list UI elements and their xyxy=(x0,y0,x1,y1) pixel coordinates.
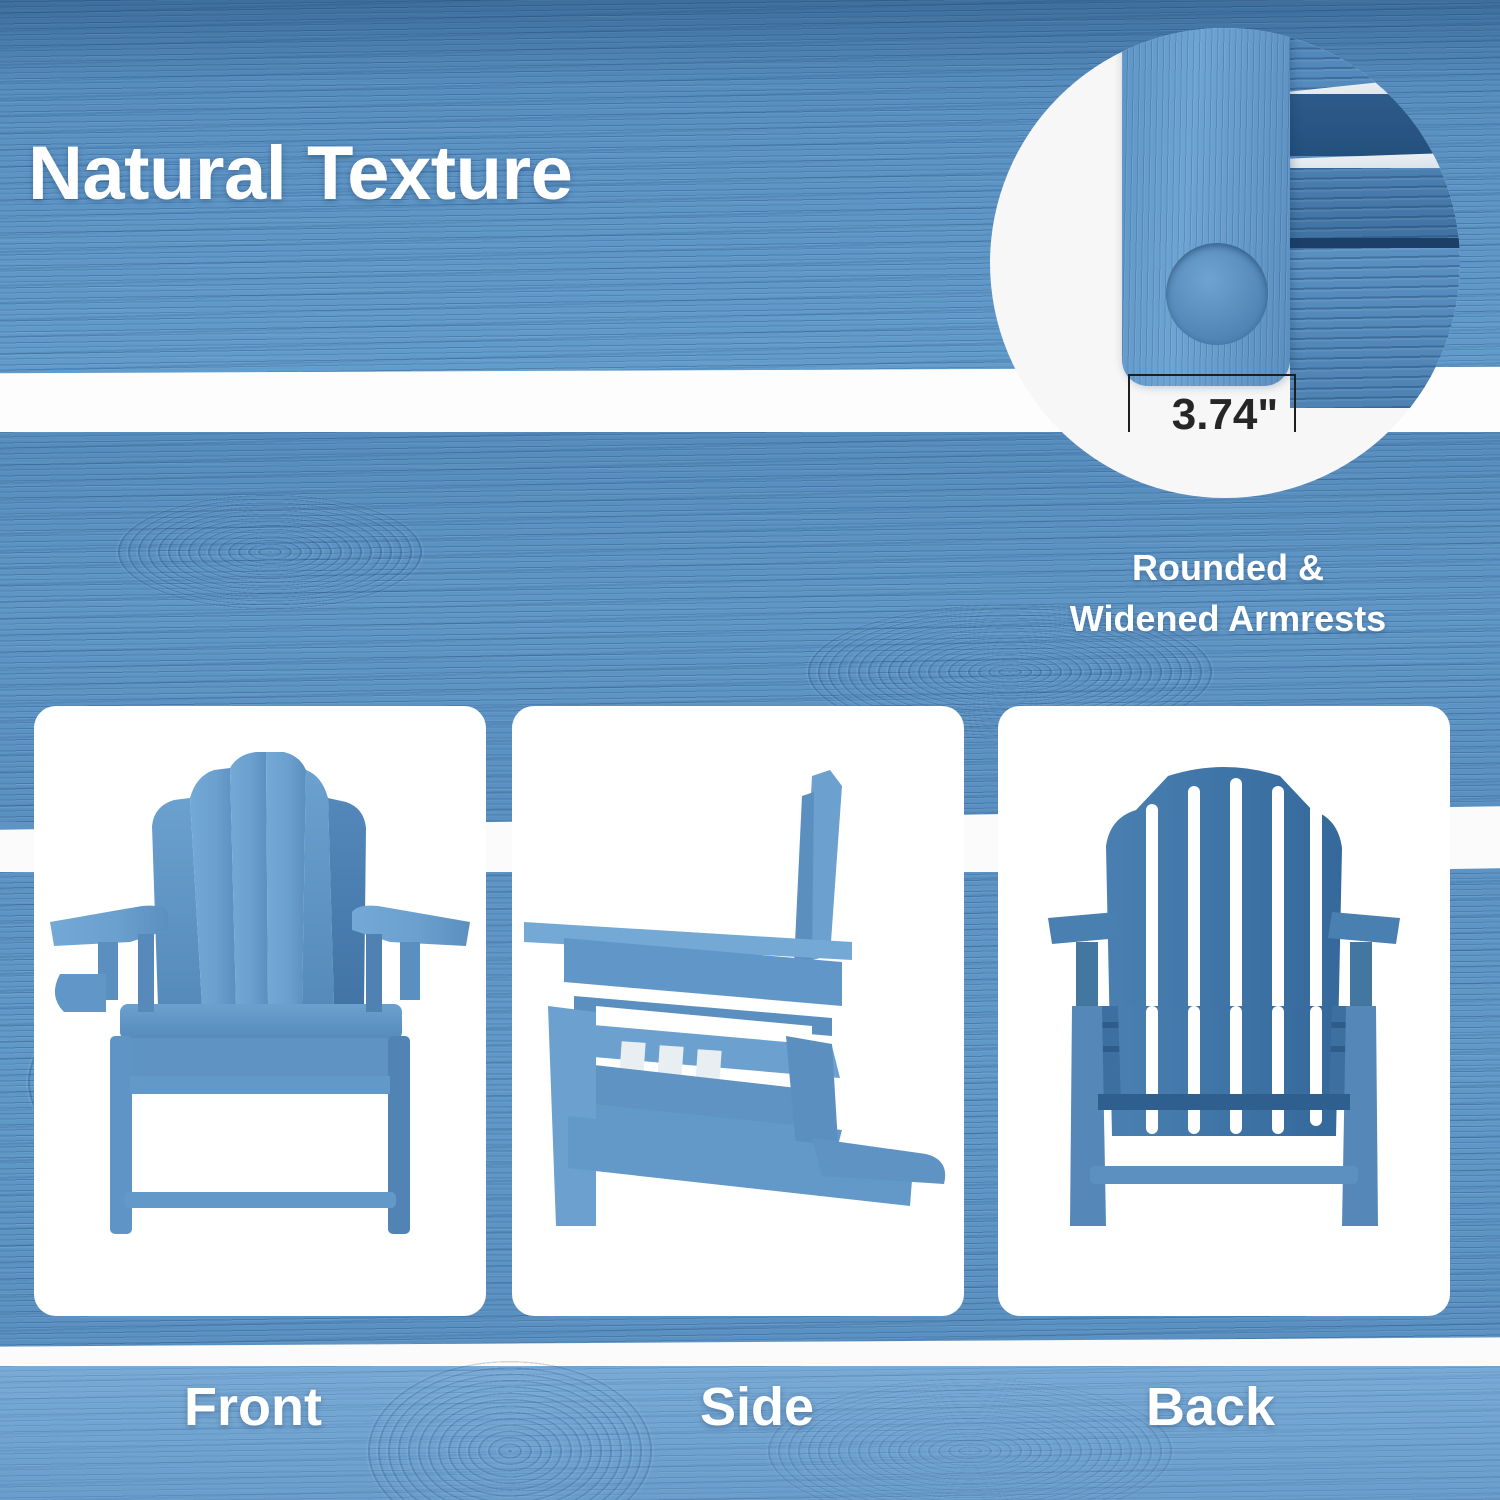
view-label-side: Side xyxy=(700,1376,814,1438)
wood-grain xyxy=(1290,168,1460,240)
cup-holder-ring xyxy=(55,974,106,1012)
chair-seat xyxy=(130,1038,392,1082)
dimension-bar xyxy=(1128,374,1296,376)
callout-caption-line-2: Widened Armrests xyxy=(1000,593,1456,644)
chair-seat-rail xyxy=(120,1004,402,1040)
wood-plank-edge xyxy=(1290,94,1460,156)
callout-caption-line-1: Rounded & xyxy=(1000,542,1456,593)
view-card-back xyxy=(998,706,1450,1316)
chair-backrest-profile xyxy=(794,770,842,964)
view-label-front: Front xyxy=(184,1376,322,1438)
wood-plank xyxy=(1290,248,1460,408)
wood-grain xyxy=(1290,248,1460,408)
callout-caption: Rounded & Widened Armrests xyxy=(1000,542,1456,644)
chair-back-slats xyxy=(152,752,366,1006)
chair-arm-support-left xyxy=(138,934,154,1012)
adirondack-chair-side-view xyxy=(512,706,964,1316)
dimension-label: 3.74" xyxy=(1110,390,1340,440)
wood-knot xyxy=(110,492,430,612)
view-card-side xyxy=(512,706,964,1316)
wood-plank xyxy=(1290,168,1460,240)
page-title: Natural Texture xyxy=(28,130,572,217)
adirondack-chair-back-view xyxy=(998,706,1450,1316)
product-feature-image: Natural Texture xyxy=(0,0,1500,1500)
view-label-back: Back xyxy=(1146,1376,1275,1438)
adirondack-chair-front-view xyxy=(34,706,486,1316)
view-card-front xyxy=(34,706,486,1316)
cup-holder-hole xyxy=(1166,243,1268,345)
chair-arm-support-right xyxy=(366,934,382,1012)
